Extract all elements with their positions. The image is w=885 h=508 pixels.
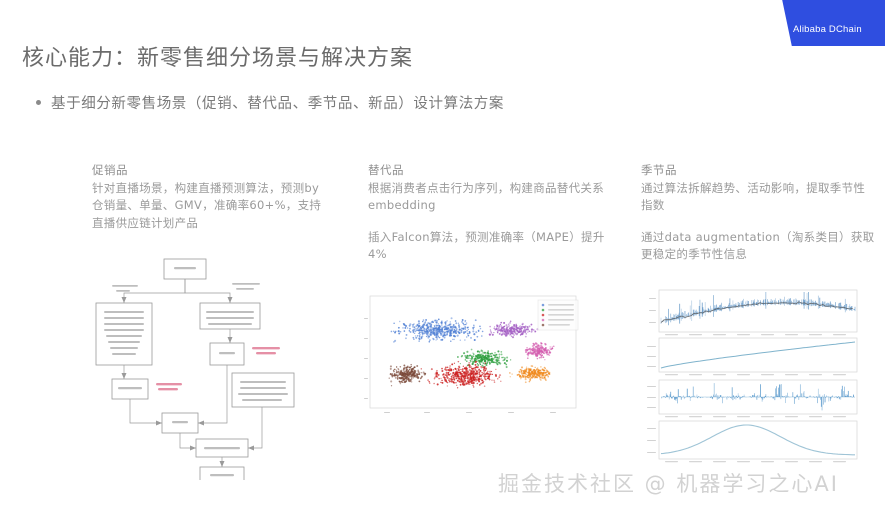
figure-seasonal-decomposition (641, 288, 866, 463)
column-substitute: 替代品 根据消费者点击行为序列，构建商品替代关系embedding 插入Falc… (368, 162, 608, 264)
column-heading: 促销品 (92, 162, 327, 178)
column-heading: 替代品 (368, 162, 608, 178)
brand-logo: Alibaba DChain (767, 0, 885, 48)
column-paragraph: 通过data augmentation（淘系类目）获取更稳定的季节性信息 (641, 229, 876, 264)
figure-scatter-tsne (362, 292, 584, 424)
scatter-svg (362, 292, 584, 424)
bullet-dot-icon (36, 100, 41, 105)
scatter-legend (538, 300, 578, 330)
column-promotion: 促销品 针对直播场景，构建直播预测算法，预测by仓销量、单量、GMV，准确率60… (92, 162, 327, 232)
column-paragraph: 根据消费者点击行为序列，构建商品替代关系embedding (368, 180, 608, 215)
column-seasonal: 季节品 通过算法拆解趋势、活动影响，提取季节性指数 通过data augment… (641, 162, 876, 264)
seasonal-svg (641, 288, 866, 463)
column-heading: 季节品 (641, 162, 876, 178)
bullet-item: 基于细分新零售场景（促销、替代品、季节品、新品）设计算法方案 (36, 92, 504, 113)
figure-flowchart (92, 255, 322, 480)
page-title: 核心能力：新零售细分场景与解决方案 (22, 40, 413, 72)
column-paragraph: 通过算法拆解趋势、活动影响，提取季节性指数 (641, 180, 876, 215)
logo-text: Alibaba DChain (793, 24, 862, 35)
logo-shape (775, 0, 885, 46)
slide-canvas: Alibaba DChain 核心能力：新零售细分场景与解决方案 基于细分新零售… (0, 0, 885, 508)
bullet-text: 基于细分新零售场景（促销、替代品、季节品、新品）设计算法方案 (51, 92, 504, 113)
column-paragraph: 插入Falcon算法，预测准确率（MAPE）提升4% (368, 229, 608, 264)
column-paragraph: 针对直播场景，构建直播预测算法，预测by仓销量、单量、GMV，准确率60+%，支… (92, 180, 327, 232)
flowchart-svg (92, 255, 322, 480)
watermark-text: 掘金技术社区 @ 机器学习之心AI (498, 468, 839, 498)
